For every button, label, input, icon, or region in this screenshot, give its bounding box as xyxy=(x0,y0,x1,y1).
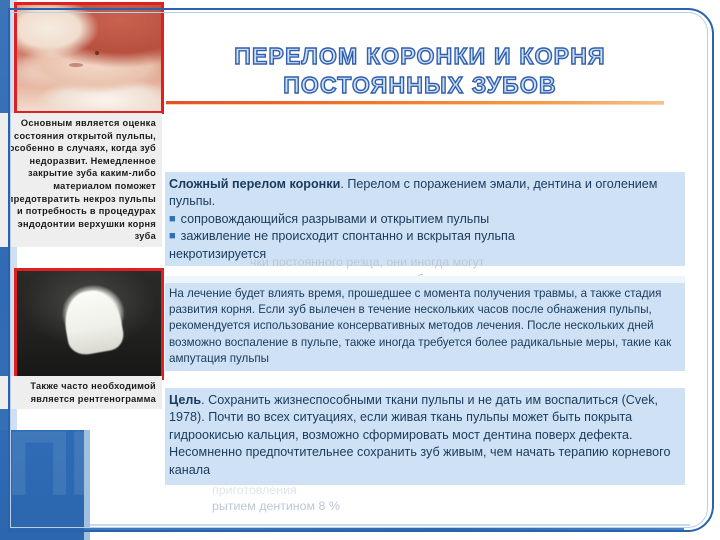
block-c-text: . Сохранить жизнеспособными ткани пульпы… xyxy=(169,393,670,477)
content-block-goal: Цель. Сохранить жизнеспособными ткани пу… xyxy=(165,388,685,485)
bullet-icon: ■ xyxy=(169,230,176,242)
bottom-rule xyxy=(84,527,684,532)
title-line-1: ПЕРЕЛОМ КОРОНКИ И КОРНЯ xyxy=(165,42,675,71)
bottom-rule-highlight xyxy=(90,524,690,526)
photo-bottom-caption: Также часто необходимой является рентген… xyxy=(0,376,162,409)
bottom-left-white-column xyxy=(90,430,165,528)
block-a-bullet-2: ■заживление не происходит спонтанно и вс… xyxy=(169,228,677,245)
bottom-left-blue-block: ПР xyxy=(0,430,84,540)
content-gap-lower xyxy=(165,378,685,388)
title-underline-highlight xyxy=(166,104,664,105)
slide-title: ПЕРЕЛОМ КОРОНКИ И КОРНЯ ПОСТОЯННЫХ ЗУБОВ xyxy=(165,42,675,100)
block-a-bullet-1-text: сопровождающийся разрывами и открытием п… xyxy=(181,212,490,226)
dental-xray xyxy=(14,268,164,380)
content-gap-upper xyxy=(165,276,685,283)
title-line-2: ПОСТОЯННЫХ ЗУБОВ xyxy=(165,71,675,100)
block-a-bullet-2-text: заживление не происходит спонтанно и вск… xyxy=(181,229,515,243)
ghost-text-d: рытием дентином 8 % xyxy=(212,498,340,515)
block-c-lead: Цель xyxy=(169,393,201,407)
presentation-slide: Основным является оценка состояния откры… xyxy=(0,0,720,540)
intraoral-photo xyxy=(14,2,164,114)
bullet-icon: ■ xyxy=(169,213,176,225)
block-a-tail: некротизируется xyxy=(169,246,677,263)
block-a-bullet-1: ■сопровождающийся разрывами и открытием … xyxy=(169,211,677,228)
photo-detail-line xyxy=(69,63,83,67)
block-b-text: На лечение будет влиять время, прошедшее… xyxy=(169,287,671,365)
content-block-complicated-crown-fracture: Сложный перелом коронки. Перелом с пораж… xyxy=(165,172,685,266)
photo-top-caption: Основным является оценка состояния откры… xyxy=(0,113,162,247)
content-block-treatment-timing: На лечение будет влиять время, прошедшее… xyxy=(165,283,685,371)
watermark-text: ПР xyxy=(6,430,84,510)
photo-detail-dot xyxy=(95,51,99,55)
intraoral-photo-image xyxy=(17,5,161,111)
block-a-lead: Сложный перелом коронки xyxy=(169,177,340,191)
